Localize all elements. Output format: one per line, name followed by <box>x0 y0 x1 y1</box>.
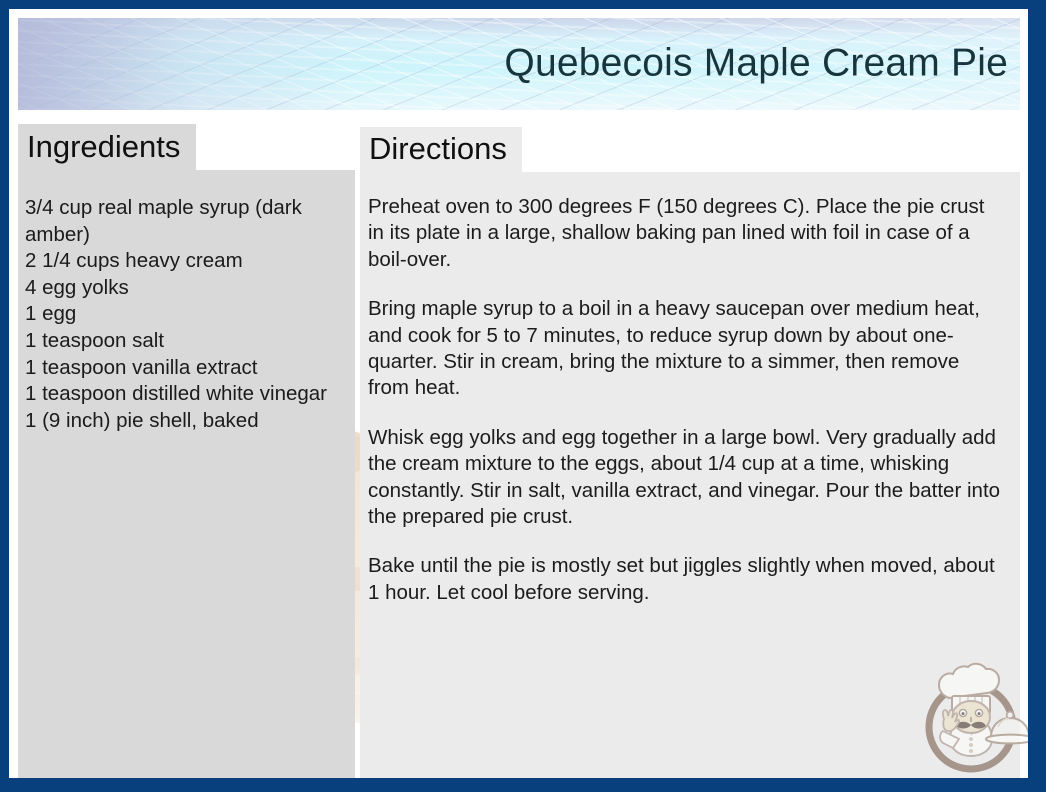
list-item: 1 teaspoon salt <box>25 328 349 355</box>
list-item: 1 (9 inch) pie shell, baked <box>25 408 349 435</box>
direction-step: Whisk egg yolks and egg together in a la… <box>368 425 1002 531</box>
list-item: 2 1/4 cups heavy cream <box>25 248 349 275</box>
title-banner: Quebecois Maple Cream Pie <box>18 18 1020 110</box>
slide-border-right <box>1028 0 1046 792</box>
slide-border-top <box>0 0 1046 9</box>
directions-tab: Directions <box>360 127 522 172</box>
banner-left-shading <box>18 18 348 110</box>
direction-step: Bake until the pie is mostly set but jig… <box>368 553 1002 606</box>
list-item: 1 teaspoon vanilla extract <box>25 355 349 382</box>
list-item: 1 teaspoon distilled white vinegar <box>25 381 349 408</box>
direction-step: Bring maple syrup to a boil in a heavy s… <box>368 296 1002 402</box>
directions-heading: Directions <box>369 129 507 169</box>
slide-border-bottom <box>0 778 1046 792</box>
directions-panel: Preheat oven to 300 degrees F (150 degre… <box>360 172 1020 778</box>
slide-border-left <box>0 0 9 792</box>
ingredients-heading: Ingredients <box>27 127 180 167</box>
list-item: 1 egg <box>25 301 349 328</box>
page-title: Quebecois Maple Cream Pie <box>504 44 1008 85</box>
list-item: 3/4 cup real maple syrup (dark amber) <box>25 195 349 248</box>
direction-step: Preheat oven to 300 degrees F (150 degre… <box>368 194 1002 273</box>
ingredients-tab: Ingredients <box>18 124 196 170</box>
ingredients-panel: 3/4 cup real maple syrup (dark amber) 2 … <box>18 170 355 778</box>
ingredients-list: 3/4 cup real maple syrup (dark amber) 2 … <box>25 195 349 434</box>
recipe-slide: Quebecois Maple Cream Pie <box>0 0 1046 792</box>
list-item: 4 egg yolks <box>25 275 349 302</box>
directions-steps: Preheat oven to 300 degrees F (150 degre… <box>368 194 1002 606</box>
